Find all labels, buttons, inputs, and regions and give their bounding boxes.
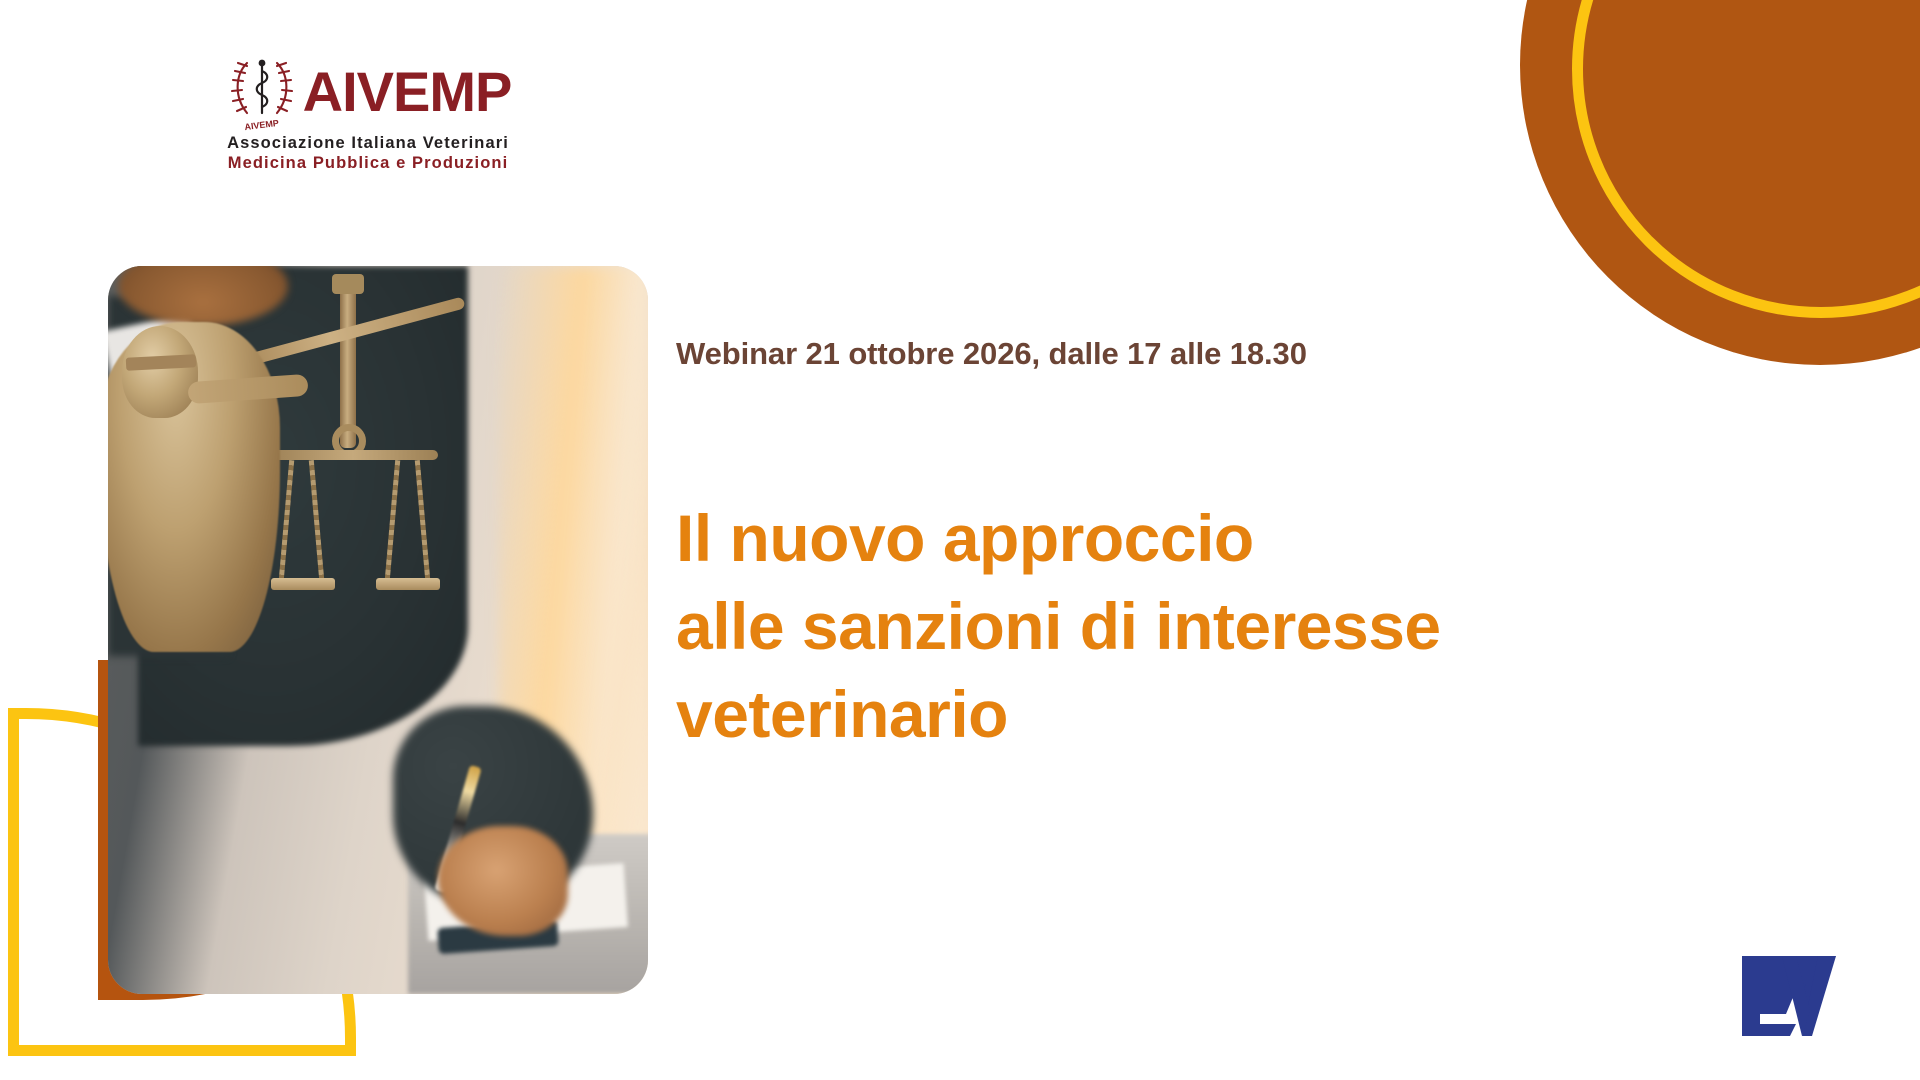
laurel-caduceus-icon: AIVEMP xyxy=(225,53,299,131)
photo-scales-post xyxy=(340,278,356,448)
webinar-poster: AIVEMP AIVEMP Associazione Italiana Vete… xyxy=(0,0,1920,1080)
webinar-date-kicker: Webinar 21 ottobre 2026, dalle 17 alle 1… xyxy=(676,336,1307,372)
headline-line-3: veterinario xyxy=(676,670,1746,758)
photo-scales-pan-right xyxy=(376,578,440,590)
aivemp-tagline-line-2: Medicina Pubblica e Produzioni xyxy=(228,154,509,173)
aivemp-logo: AIVEMP AIVEMP Associazione Italiana Vete… xyxy=(228,52,508,190)
headline-line-2: alle sanzioni di interesse xyxy=(676,582,1746,670)
aivemp-tagline-line-1: Associazione Italiana Veterinari xyxy=(227,134,509,153)
aivemp-logo-row: AIVEMP AIVEMP xyxy=(225,52,512,132)
ev-logo xyxy=(1738,950,1872,1036)
photo-scales-pan-left xyxy=(271,578,335,590)
photo-person-writing-hand xyxy=(438,826,568,936)
emblem-caption: AIVEMP xyxy=(244,118,279,131)
photo-scales-finial xyxy=(332,274,364,294)
photo-scales-crossbar xyxy=(268,450,438,460)
photo-statue-head xyxy=(122,326,198,418)
aivemp-wordmark: AIVEMP xyxy=(303,63,512,121)
page-title: Il nuovo approccio alle sanzioni di inte… xyxy=(676,494,1746,758)
hero-photo xyxy=(108,266,648,994)
headline-line-1: Il nuovo approccio xyxy=(676,494,1746,582)
decoration-top-right xyxy=(1500,0,1920,400)
